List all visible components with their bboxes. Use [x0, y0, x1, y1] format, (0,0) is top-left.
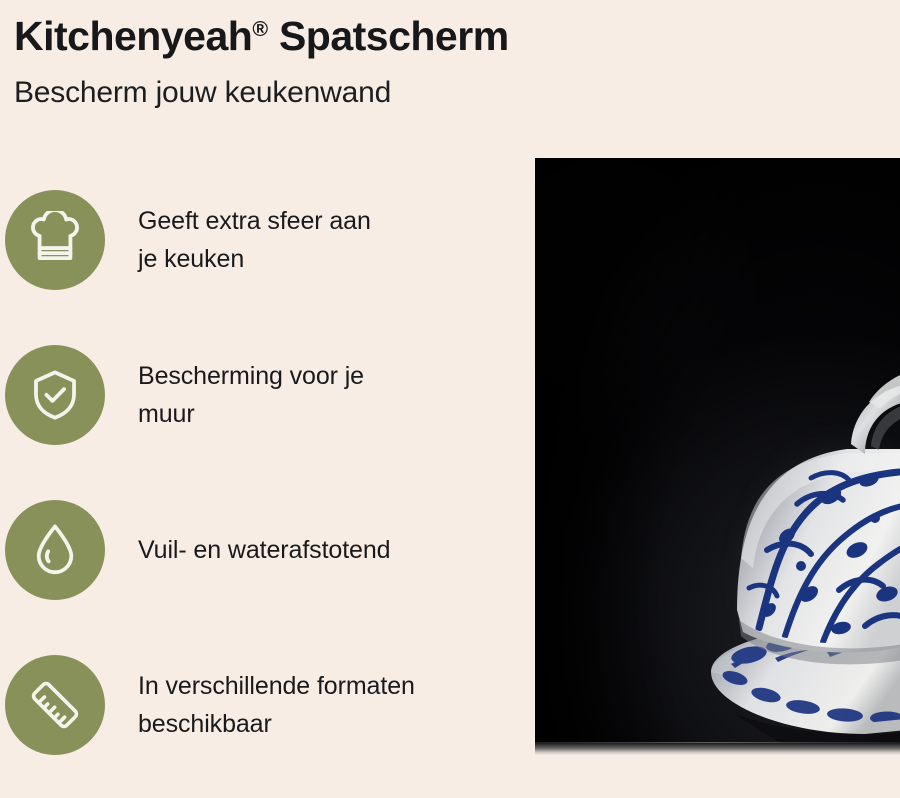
shield-check-icon: [26, 366, 84, 424]
feature-item: Vuil- en waterafstotend: [0, 488, 520, 643]
feature-item: In verschillende formaten beschikbaar: [0, 643, 520, 798]
ruler-icon: [26, 676, 84, 734]
feature-icon-badge: [5, 655, 105, 755]
feature-icon-badge: [5, 345, 105, 445]
product-type-label: [268, 13, 279, 59]
delft-blue-porcelain-illustration: [535, 158, 900, 755]
photo-table-surface: [535, 743, 900, 755]
feature-item: Geeft extra sfeer aan je keuken: [0, 178, 520, 333]
header: Kitchenyeah® Spatscherm Bescherm jouw ke…: [14, 4, 654, 111]
registered-trademark-symbol: ®: [252, 17, 268, 41]
product-name: Spatscherm: [279, 13, 509, 59]
feature-label: Bescherming voor je muur: [138, 333, 508, 457]
brand-name: Kitchenyeah: [14, 13, 252, 59]
feature-label: In verschillende formaten beschikbaar: [138, 643, 508, 767]
feature-label: Vuil- en waterafstotend: [138, 488, 508, 612]
chef-hat-icon: [26, 211, 84, 269]
feature-icon-badge: [5, 500, 105, 600]
feature-icon-badge: [5, 190, 105, 290]
feature-item: Bescherming voor je muur: [0, 333, 520, 488]
feature-list: Geeft extra sfeer aan je keuken Bescherm…: [0, 178, 520, 798]
page-title: Kitchenyeah® Spatscherm: [14, 4, 654, 61]
product-listing-banner: Kitchenyeah® Spatscherm Bescherm jouw ke…: [0, 0, 900, 755]
feature-label: Geeft extra sfeer aan je keuken: [138, 178, 508, 302]
product-photo[interactable]: [535, 158, 900, 755]
page-subtitle: Bescherm jouw keukenwand: [14, 75, 654, 111]
water-drop-icon: [26, 521, 84, 579]
